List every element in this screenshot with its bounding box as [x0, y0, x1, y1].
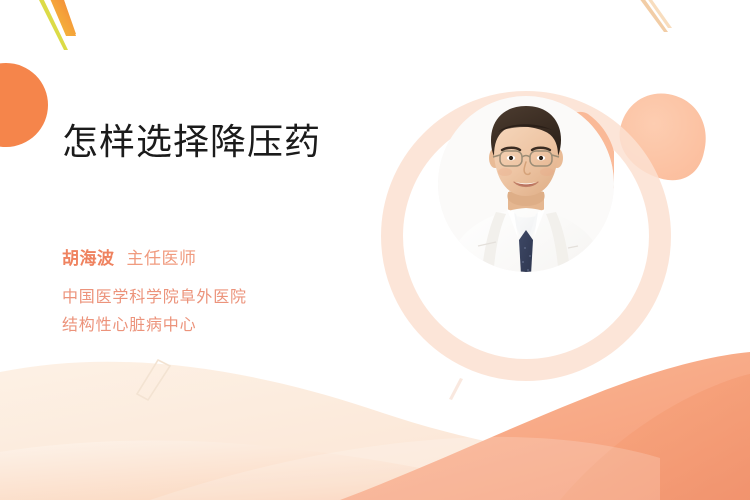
- orange-circle-left: [0, 63, 48, 147]
- speaker-portrait: [438, 96, 614, 360]
- speaker-affiliation-line-1: 中国医学科学院阜外医院: [62, 290, 247, 306]
- faint-stroke-bottom-right: [449, 378, 463, 400]
- speaker-role: 主任医师: [127, 249, 197, 268]
- portrait-circle-frame: [438, 96, 614, 272]
- speaker-credit: 胡海波主任医师: [62, 250, 197, 268]
- speaker-affiliation-line-2: 结构性心脏病中心: [62, 318, 196, 334]
- page-title: 怎样选择降压药: [62, 120, 321, 163]
- speaker-name: 胡海波: [62, 249, 115, 268]
- doctor-portrait-illustration: [438, 96, 614, 272]
- presentation-slide: 怎样选择降压药 胡海波主任医师 中国医学科学院阜外医院 结构性心脏病中心: [0, 0, 750, 500]
